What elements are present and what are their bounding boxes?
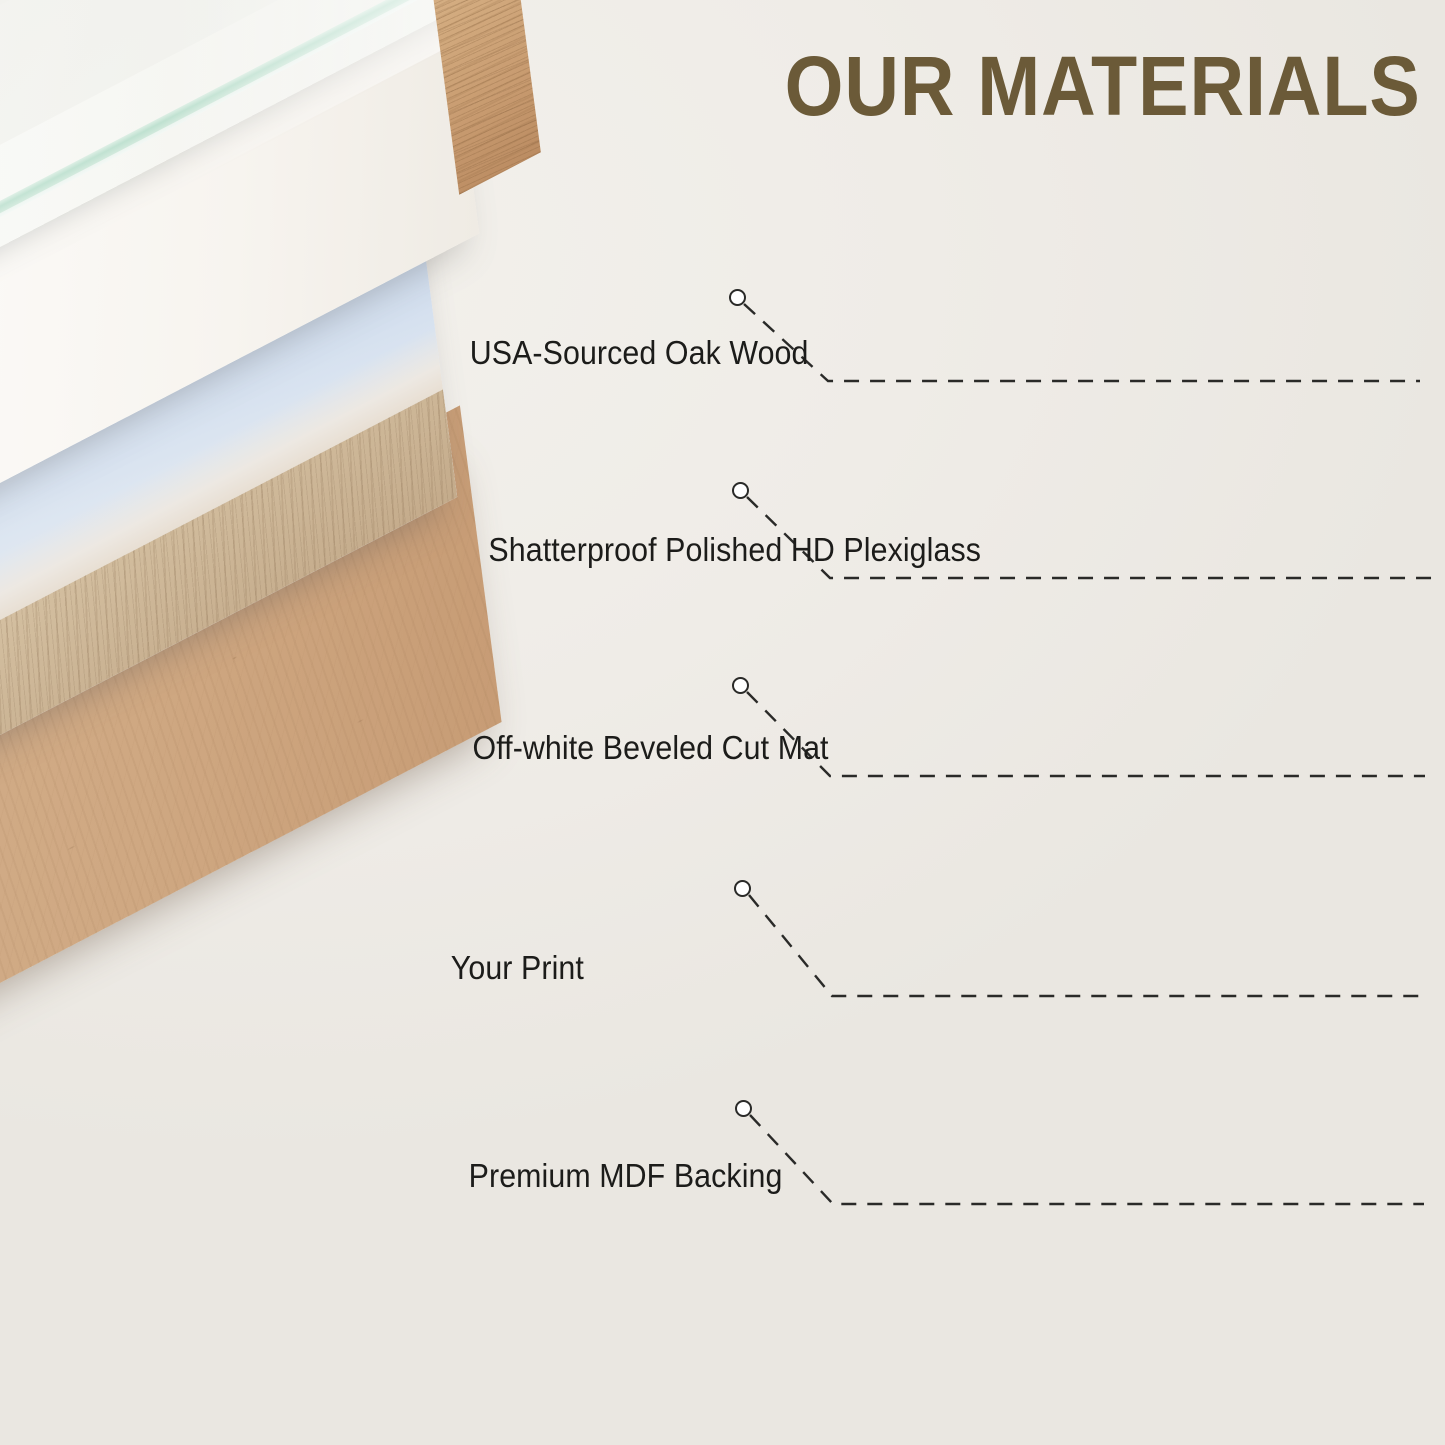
callout-marker-dot[interactable]: [734, 880, 751, 897]
callout-marker-dot[interactable]: [729, 289, 746, 306]
callout-label-print: Your Print: [451, 949, 584, 987]
callout-marker-dot[interactable]: [732, 677, 749, 694]
callout-marker-dot[interactable]: [732, 482, 749, 499]
callout-group: USA-Sourced Oak Wood Shatterproof Polish…: [0, 0, 1445, 1445]
infographic-canvas: OUR MATERIALS USA-Sourced Oak Wood Shatt…: [0, 0, 1445, 1445]
callout-label-plexiglass: Shatterproof Polished HD Plexiglass: [489, 531, 982, 569]
callout-label-mdf-backing: Premium MDF Backing: [469, 1157, 783, 1195]
callout-label-oak-wood: USA-Sourced Oak Wood: [470, 334, 809, 372]
callout-label-mat: Off-white Beveled Cut Mat: [473, 729, 829, 767]
leader-lines: [0, 0, 1445, 1445]
callout-marker-dot[interactable]: [735, 1100, 752, 1117]
